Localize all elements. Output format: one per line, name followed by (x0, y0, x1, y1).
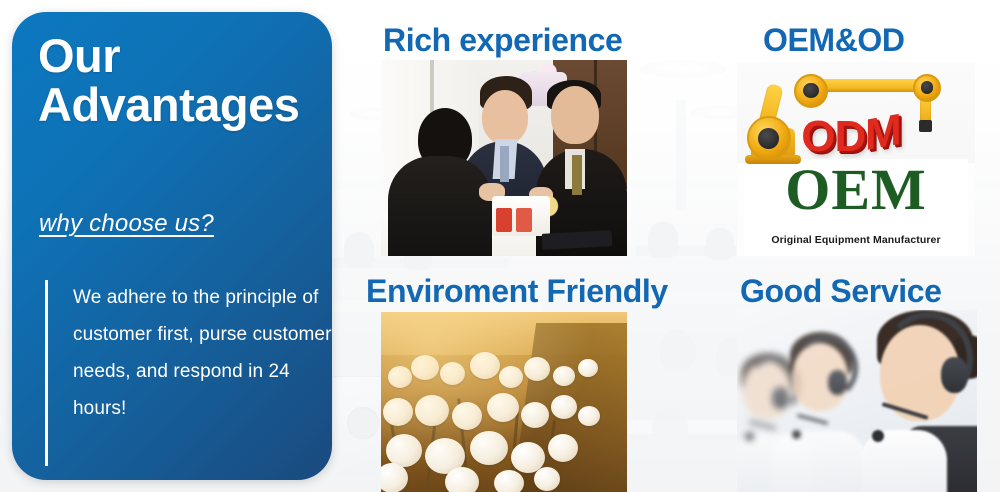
odm-letter-m: M (865, 105, 901, 161)
panel-subtitle: why choose us? (39, 210, 214, 238)
title-line-2: Advantages (38, 81, 318, 130)
odm-letters: OD (801, 112, 865, 161)
heading-oem-odm: OEM&OD (763, 22, 905, 59)
photo-cotton-field (381, 312, 627, 492)
photo-business-meeting (381, 60, 627, 256)
photo-oem-odm-logo: ODM OEM Original Equipment Manufacturer (737, 62, 975, 256)
advantages-panel: Our Advantages why choose us? We adhere … (12, 12, 332, 480)
panel-body-accent-rule: We adhere to the principle of customer f… (45, 280, 332, 466)
robot-arm-icon (747, 116, 791, 160)
advantages-banner: Our Advantages why choose us? We adhere … (0, 0, 1000, 492)
oem-caption: Original Equipment Manufacturer (737, 234, 975, 246)
heading-environment-friendly: Enviroment Friendly (366, 273, 668, 310)
page-title: Our Advantages (38, 32, 318, 130)
heading-good-service: Good Service (740, 273, 942, 310)
photo-customer-service (737, 310, 977, 492)
oem-wordmark: OEM (737, 161, 975, 219)
title-line-1: Our (38, 29, 120, 82)
heading-rich-experience: Rich experience (383, 22, 622, 59)
odm-wordmark: ODM (801, 112, 901, 162)
panel-body-text: We adhere to the principle of customer f… (73, 280, 332, 427)
